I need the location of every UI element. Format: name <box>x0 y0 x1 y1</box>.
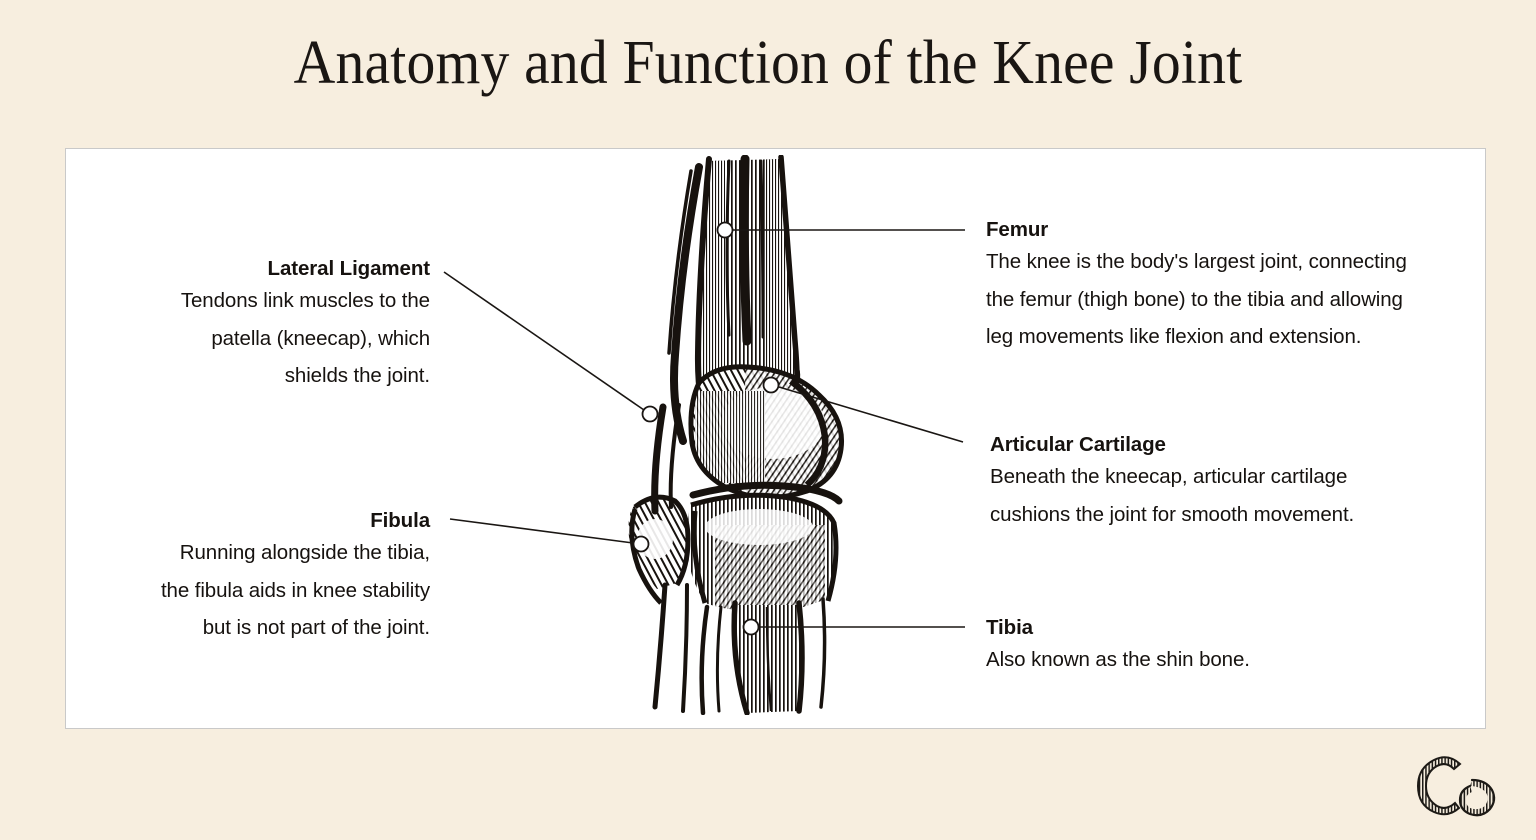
co-monogram-logo[interactable] <box>1406 748 1502 820</box>
page-title: Anatomy and Function of the Knee Joint <box>54 32 1482 94</box>
callout-title: Fibula <box>150 508 430 534</box>
callout-title: Tibia <box>986 615 1406 641</box>
callout-body: Also known as the shin bone. <box>986 641 1406 678</box>
callout-tibia: Tibia Also known as the shin bone. <box>986 615 1406 679</box>
callout-title: Lateral Ligament <box>150 256 430 282</box>
callout-title: Articular Cartilage <box>990 432 1410 458</box>
callout-articular-cartilage: Articular Cartilage Beneath the kneecap,… <box>990 432 1410 533</box>
callout-fibula: Fibula Running alongside the tibia, the … <box>150 508 430 646</box>
callout-title: Femur <box>986 217 1416 243</box>
callout-body: Tendons link muscles to the patella (kne… <box>150 282 430 394</box>
callout-body: Running alongside the tibia, the fibula … <box>150 534 430 646</box>
callout-lateral-ligament: Lateral Ligament Tendons link muscles to… <box>150 256 430 394</box>
callout-body: The knee is the body's largest joint, co… <box>986 243 1416 355</box>
callout-body: Beneath the kneecap, articular cartilage… <box>990 458 1410 533</box>
callout-femur: Femur The knee is the body's largest joi… <box>986 217 1416 355</box>
